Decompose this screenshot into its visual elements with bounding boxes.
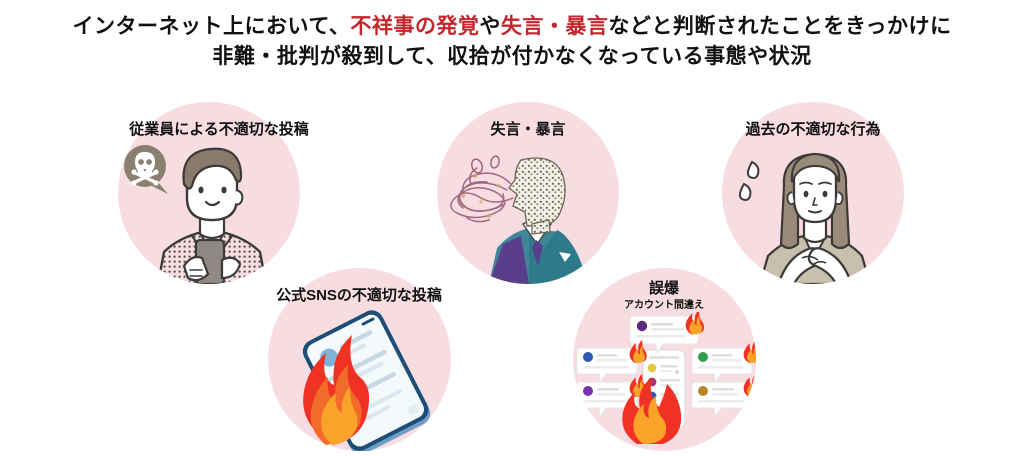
label-official-sns-post: 公式SNSの不適切な投稿 (259, 287, 459, 305)
sublabel-misfire: アカウント間違え (594, 300, 734, 312)
comment-bubble (577, 348, 637, 383)
flame-icon (744, 340, 756, 363)
burning-smartphone-icon (268, 305, 451, 451)
flame-icon (686, 312, 704, 334)
title-seg-b: や (479, 15, 501, 38)
comment-bubble (692, 382, 752, 417)
label-misfire: 誤爆 (604, 280, 724, 298)
title-highlight-2: 失言・暴言 (501, 15, 609, 38)
woman-crossed-arms-refusal-icon (722, 140, 904, 284)
title-highlight-1: 不祥事の発覚 (350, 15, 479, 38)
title-seg-a: インターネット上において、 (73, 15, 351, 38)
phone-with-comment-bubbles-on-fire-icon (573, 312, 756, 451)
title-seg-c: などと判断されたことをきっかけに (608, 15, 951, 38)
label-past-misconduct: 過去の不適切な行為 (723, 121, 903, 139)
title-line-2: 非難・批判が殺到して、収拾が付かなくなっている事態や状況 (0, 42, 1024, 72)
label-employee-post: 従業員による不適切な投稿 (109, 121, 329, 139)
skull-speech-bubble-icon (124, 145, 168, 194)
man-profile-tangled-speech-icon (437, 140, 619, 284)
page-title: インターネット上において、不祥事の発覚や失言・暴言などと判断されたことをきっかけ… (0, 12, 1024, 72)
sweat-drop-icon (740, 162, 758, 200)
title-line-1: インターネット上において、不祥事の発覚や失言・暴言などと判断されたことをきっかけ… (0, 12, 1024, 42)
label-verbal-gaffe: 失言・暴言 (438, 121, 618, 139)
comment-bubble (692, 348, 752, 383)
flame-icon (744, 374, 756, 397)
infographic-canvas: インターネット上において、不祥事の発覚や失言・暴言などと判断されたことをきっかけ… (0, 0, 1024, 451)
man-with-smartphone-skull-bubble-icon (118, 140, 300, 284)
